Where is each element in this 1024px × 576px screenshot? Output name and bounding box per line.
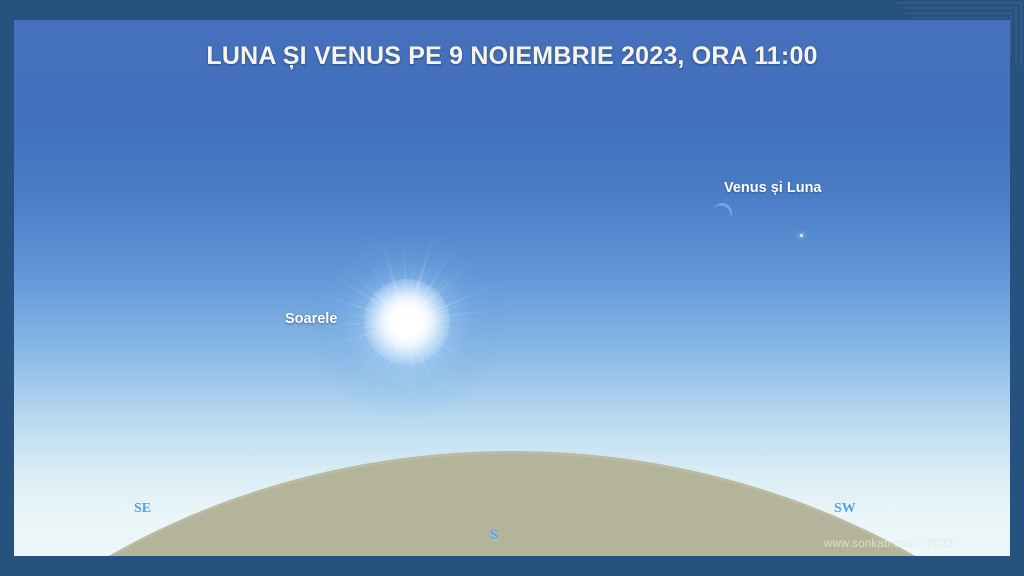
direction-label-southwest: SW: [834, 501, 856, 517]
direction-label-southeast: SE: [134, 501, 151, 517]
sun-core: [390, 305, 424, 339]
image-frame: LUNA ȘI VENUS PE 9 NOIEMBRIE 2023, ORA 1…: [0, 0, 1024, 576]
venus-point-icon: [800, 234, 803, 237]
crescent-moon-icon: [708, 199, 735, 226]
label-venus-and-moon: Venus și Luna: [724, 180, 822, 196]
page-title: LUNA ȘI VENUS PE 9 NOIEMBRIE 2023, ORA 1…: [14, 42, 1010, 71]
direction-label-south: S: [490, 528, 498, 544]
watermark: www.sonkab.com - 2023: [824, 538, 953, 550]
label-sun: Soarele: [285, 311, 337, 327]
sky-scene: LUNA ȘI VENUS PE 9 NOIEMBRIE 2023, ORA 1…: [14, 20, 1010, 556]
